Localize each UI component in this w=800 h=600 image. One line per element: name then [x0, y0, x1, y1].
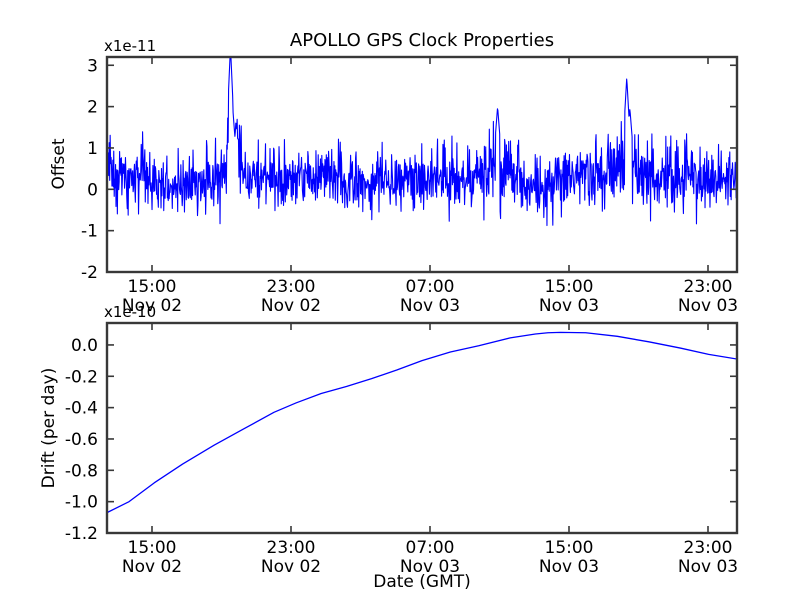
bottom-ytick-label: -1.0 [65, 493, 98, 513]
bottom-xtick-time: 23:00 [684, 538, 733, 558]
bottom-xtick-date: Nov 03 [539, 557, 599, 577]
bottom-ylabel: Drift (per day) [39, 368, 59, 489]
top-xtick-time: 15:00 [128, 277, 177, 297]
bottom-exponent-label: x1e-10 [104, 303, 156, 321]
bottom-ytick-label: -0.2 [65, 367, 98, 387]
bottom-xtick-time: 15:00 [545, 538, 594, 558]
top-ytick-label: -2 [81, 263, 98, 283]
bottom-xtick-date: Nov 03 [400, 557, 460, 577]
bottom-ytick-label: -0.6 [65, 430, 98, 450]
top-ytick-label: -1 [81, 222, 98, 242]
top-ytick-label: 2 [87, 98, 98, 118]
bottom-xtick-date: Nov 02 [122, 557, 182, 577]
top-xtick-time: 23:00 [684, 277, 733, 297]
top-xtick-time: 07:00 [406, 277, 455, 297]
top-xtick-time: 15:00 [545, 277, 594, 297]
top-ytick-label: 3 [87, 56, 98, 76]
bottom-ytick-label: 0.0 [71, 336, 98, 356]
bottom-xtick-time: 15:00 [128, 538, 177, 558]
bottom-ytick-label: -0.8 [65, 461, 98, 481]
bottom-xtick-date: Nov 03 [678, 557, 738, 577]
bottom-ytick-label: -1.2 [65, 524, 98, 544]
top-ytick-label: 0 [87, 180, 98, 200]
bottom-xtick-time: 07:00 [406, 538, 455, 558]
bottom-ytick-label: -0.4 [65, 399, 98, 419]
top-xtick-date: Nov 03 [400, 296, 460, 316]
figure-canvas: APOLLO GPS Clock Properties x1e-11 Offse… [0, 0, 800, 600]
top-ytick-label: 1 [87, 139, 98, 159]
top-xtick-time: 23:00 [267, 277, 316, 297]
top-ylabel: Offset [49, 138, 69, 189]
chart-title: APOLLO GPS Clock Properties [290, 30, 554, 51]
bottom-xtick-time: 23:00 [267, 538, 316, 558]
bottom-xtick-date: Nov 02 [261, 557, 321, 577]
top-exponent-label: x1e-11 [104, 37, 156, 55]
top-xtick-date: Nov 03 [678, 296, 738, 316]
top-xtick-date: Nov 03 [539, 296, 599, 316]
top-xtick-date: Nov 02 [261, 296, 321, 316]
matplotlib-figure: APOLLO GPS Clock Properties x1e-11 Offse… [0, 0, 800, 600]
